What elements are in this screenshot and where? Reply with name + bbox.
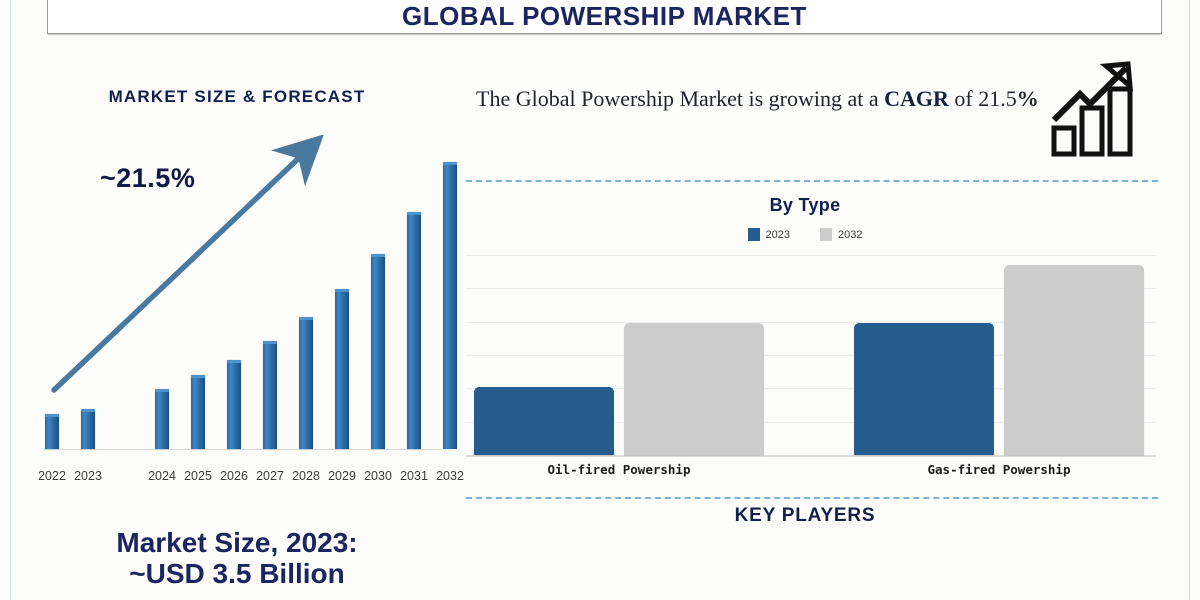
market-size-line-1: Market Size, 2023:	[14, 527, 460, 558]
forecast-year-label: 2022	[38, 469, 66, 483]
by-type-bar	[474, 387, 614, 455]
legend-label: 2032	[838, 229, 862, 241]
by-type-chart: Oil-fired PowershipGas-fired Powership	[466, 255, 1166, 460]
forecast-year-axis: 2022202320242025202620272028202920302031…	[32, 461, 452, 483]
by-type-category-label: Gas-fired Powership	[928, 462, 1071, 477]
forecast-year-label: 2025	[184, 469, 212, 483]
legend-label: 2023	[766, 229, 790, 241]
forecast-year-label: 2029	[328, 469, 356, 483]
right-column: The Global Powership Market is growing a…	[452, 0, 1192, 600]
legend-item[interactable]: 2023	[748, 228, 790, 241]
by-type-title: By Type	[452, 195, 1158, 216]
forecast-year-label: 2028	[292, 469, 320, 483]
market-size-callout: Market Size, 2023: ~USD 3.5 Billion	[14, 527, 460, 590]
cagr-statement-prefix: The Global Powership Market is growing a…	[476, 86, 884, 111]
forecast-bar	[45, 414, 59, 449]
forecast-year-label: 2031	[400, 469, 428, 483]
forecast-year-label: 2024	[148, 469, 176, 483]
by-type-category-axis: Oil-fired PowershipGas-fired Powership	[466, 460, 1166, 484]
key-players-title: KEY PLAYERS	[452, 505, 1158, 527]
by-type-legend: 20232032	[452, 228, 1158, 241]
forecast-year-label: 2030	[364, 469, 392, 483]
forecast-bar	[263, 341, 277, 449]
forecast-bar	[81, 409, 95, 449]
market-size-line-2: ~USD 3.5 Billion	[14, 558, 460, 589]
infographic-page: GLOBAL POWERSHIP MARKET MARKET SIZE & FO…	[0, 0, 1200, 600]
legend-item[interactable]: 2032	[820, 228, 862, 241]
forecast-bar	[191, 375, 205, 449]
forecast-bar	[407, 212, 421, 449]
market-size-forecast-chart: ~21.5% 202220232024202520262027202820292…	[32, 135, 452, 505]
by-type-bar	[624, 323, 764, 455]
forecast-bar	[371, 254, 385, 449]
forecast-bar-group	[44, 149, 444, 449]
by-type-bar	[1004, 265, 1144, 455]
by-type-category-label: Oil-fired Powership	[548, 462, 691, 477]
left-column: MARKET SIZE & FORECAST ~21.5% 2022202320…	[14, 40, 460, 600]
cagr-statement-middle: of	[949, 86, 978, 111]
cagr-annotation: ~21.5%	[100, 163, 195, 194]
chart-baseline	[466, 455, 1156, 457]
forecast-bar	[299, 317, 313, 449]
forecast-year-label: 2027	[256, 469, 284, 483]
forecast-bar	[155, 389, 169, 449]
divider-top	[466, 180, 1158, 182]
cagr-percent-sign: %	[1017, 86, 1039, 111]
legend-swatch	[748, 228, 760, 241]
page-left-rule	[10, 0, 11, 600]
bar-chart-growth-icon	[1050, 58, 1146, 158]
cagr-statement: The Global Powership Market is growing a…	[476, 83, 1056, 115]
cagr-value: 21.5	[978, 86, 1017, 111]
forecast-year-label: 2023	[74, 469, 102, 483]
gridline	[466, 255, 1156, 256]
by-type-bar	[854, 323, 994, 455]
market-size-forecast-heading: MARKET SIZE & FORECAST	[14, 87, 460, 107]
forecast-year-label: 2026	[220, 469, 248, 483]
divider-bottom	[466, 497, 1158, 499]
forecast-bar	[227, 360, 241, 449]
cagr-keyword: CAGR	[884, 86, 949, 111]
forecast-bar	[335, 289, 349, 449]
legend-swatch	[820, 228, 832, 241]
